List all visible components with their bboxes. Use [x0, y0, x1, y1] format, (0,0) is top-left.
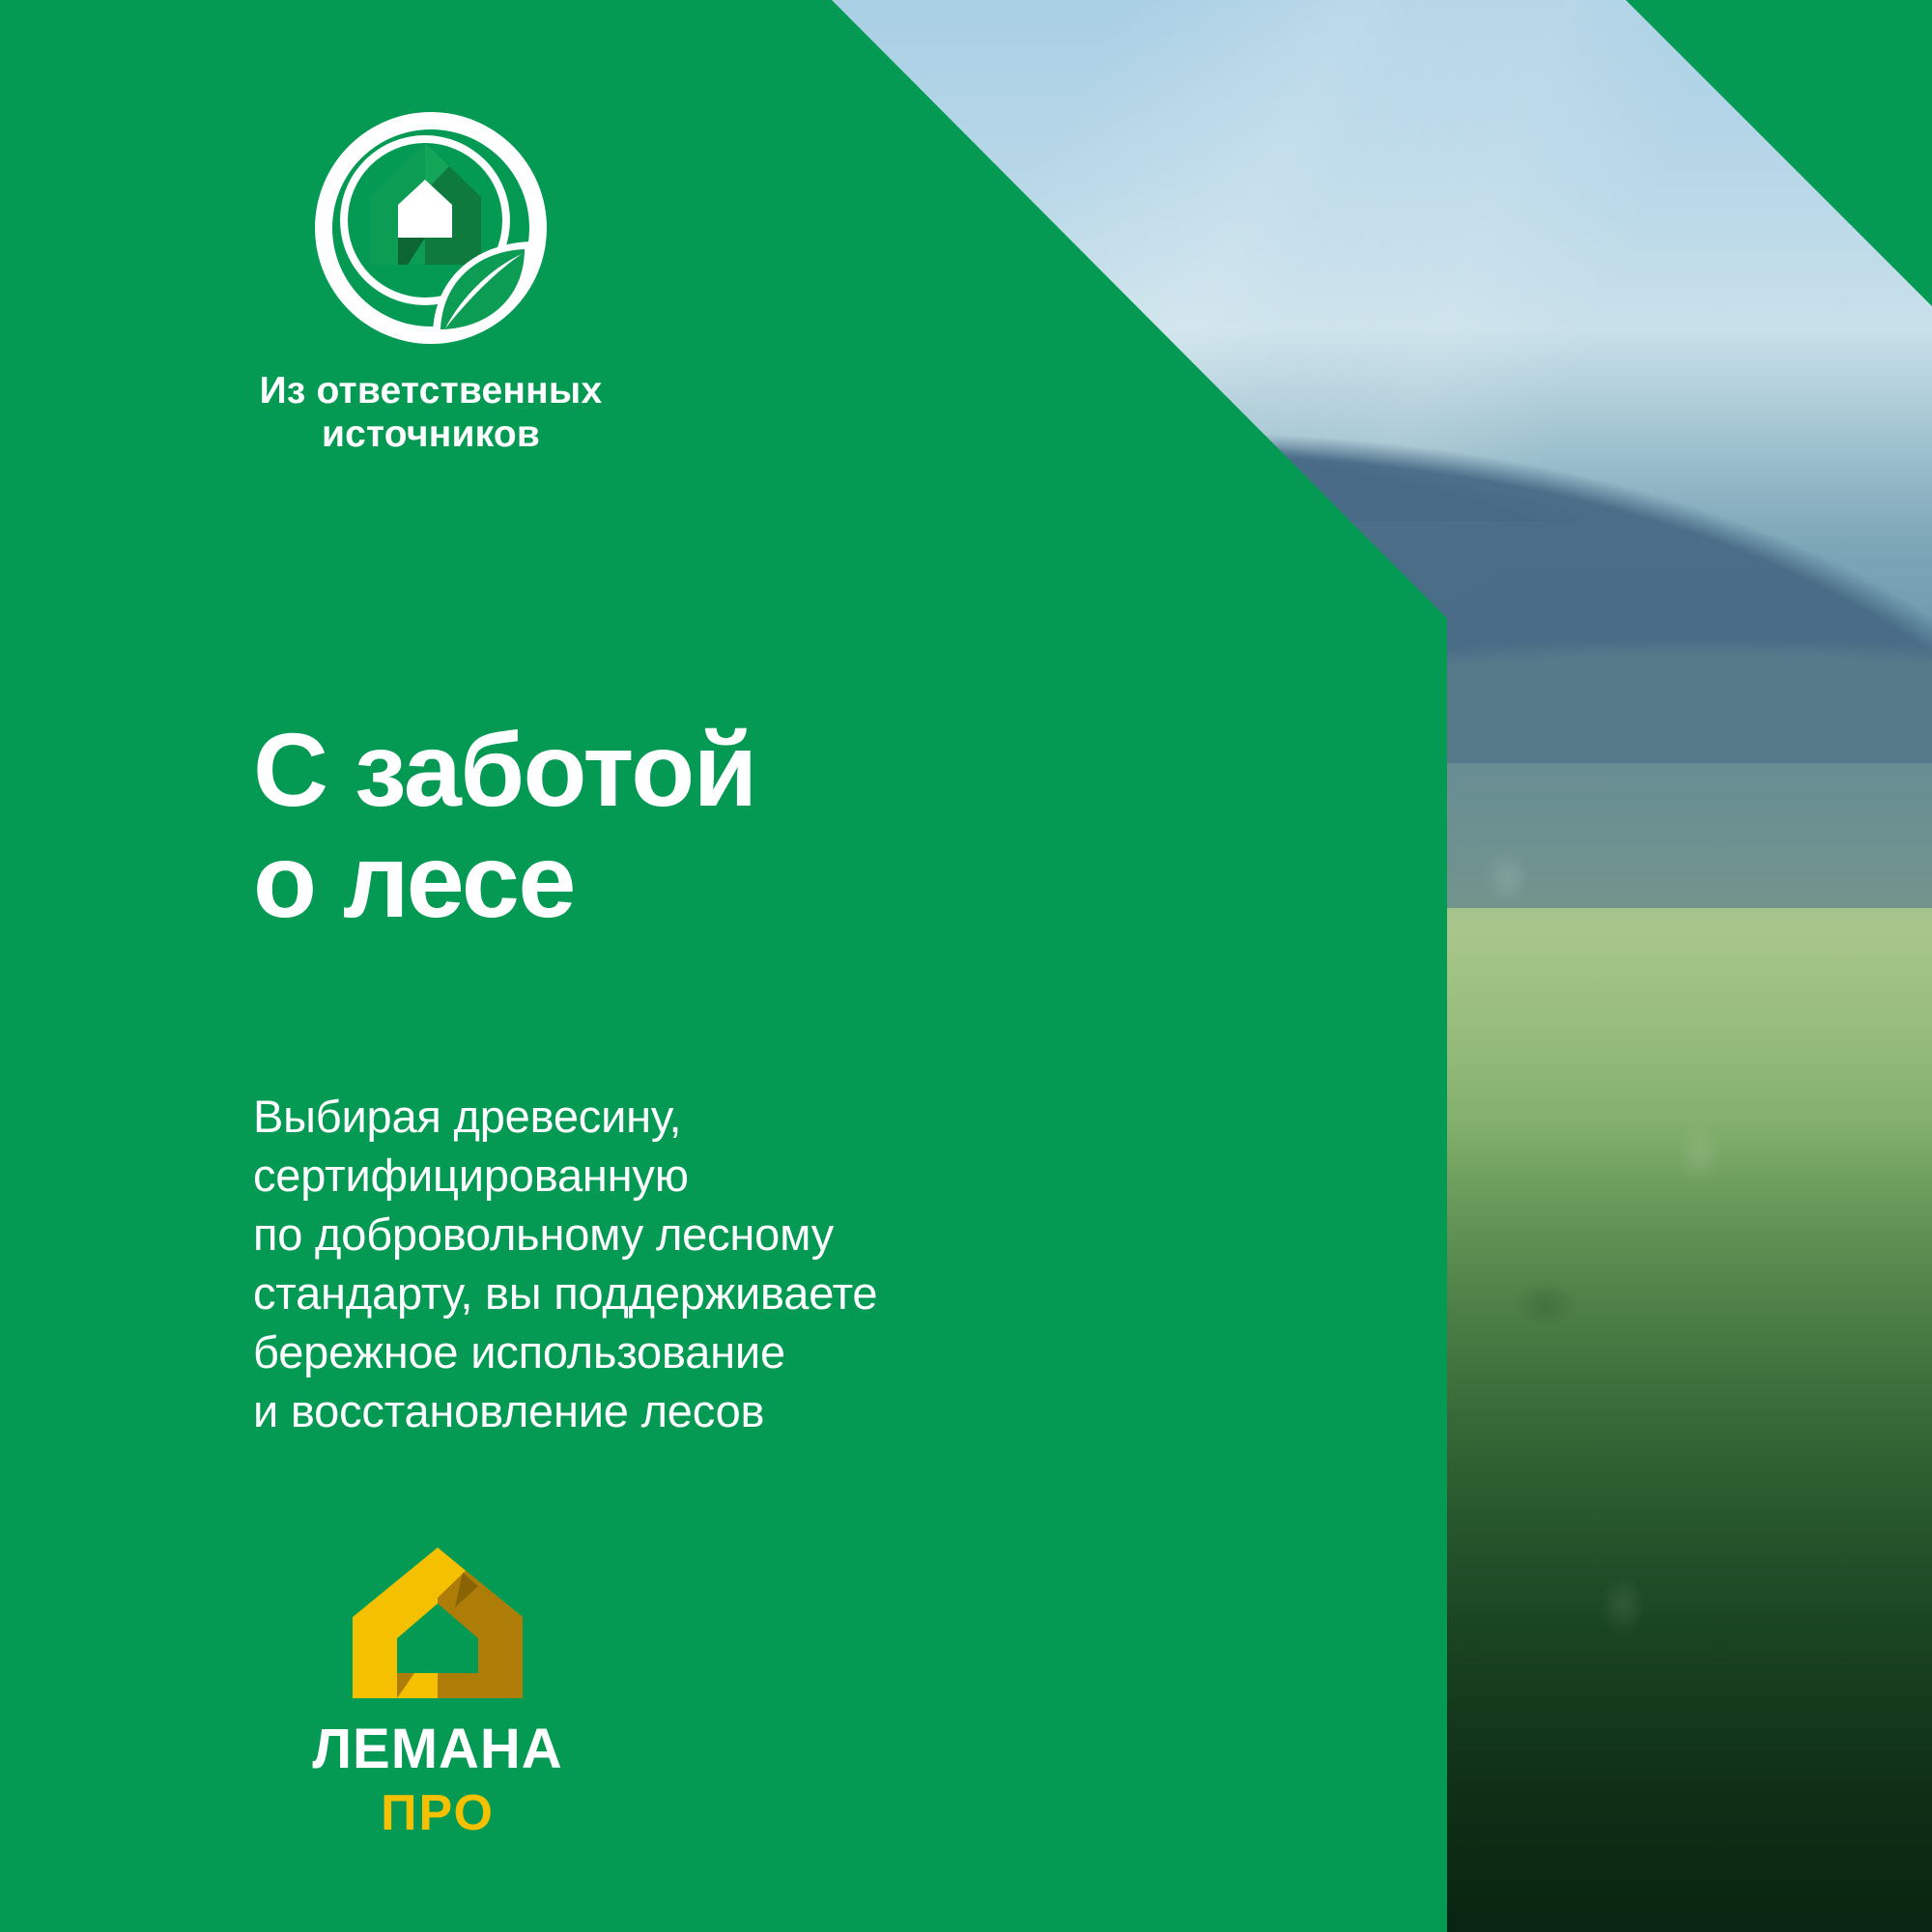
brand-submark: ПРО: [343, 1785, 532, 1839]
content-area: Из ответственных источников С заботой о …: [0, 0, 1447, 1932]
body-paragraph: Выбирая древесину, сертифицированную по …: [253, 1087, 877, 1441]
page-title: С заботой о лесе: [253, 715, 756, 936]
lemana-house-icon: [349, 1544, 526, 1706]
poster: Из ответственных источников С заботой о …: [0, 0, 1932, 1932]
eco-badge: Из ответственных источников: [249, 108, 612, 456]
brand-lockup: ЛЕМАНА ПРО: [249, 1544, 626, 1839]
brand-wordmark: ЛЕМАНА: [278, 1719, 597, 1779]
svg-text:ПРО: ПРО: [381, 1785, 495, 1839]
eco-badge-caption: Из ответственных источников: [249, 369, 612, 456]
svg-text:ЛЕМАНА: ЛЕМАНА: [312, 1719, 562, 1779]
house-leaf-circle-icon: [311, 108, 551, 348]
